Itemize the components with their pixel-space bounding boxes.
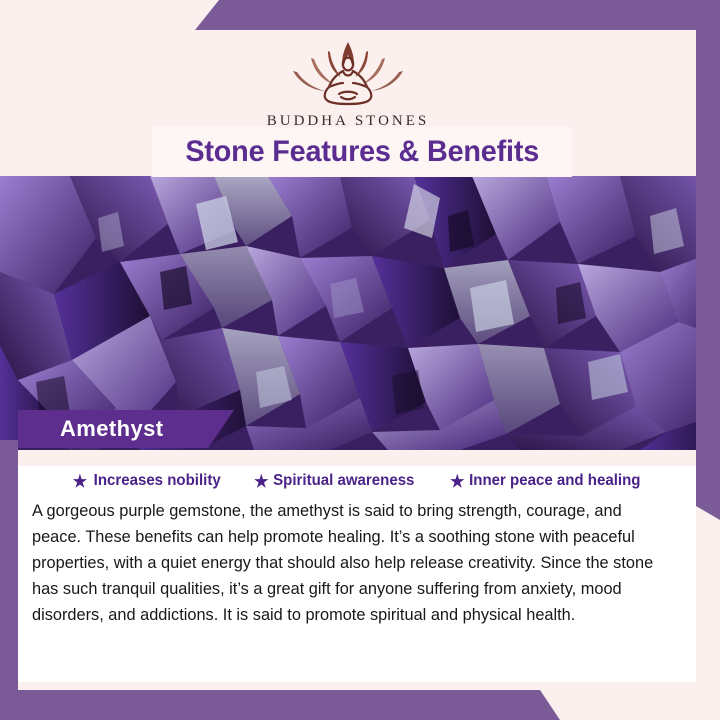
stone-name-tag: Amethyst bbox=[18, 410, 234, 448]
right-decor-strip bbox=[696, 0, 720, 520]
amethyst-crystal-graphic bbox=[0, 176, 720, 450]
star-icon: ★ bbox=[72, 473, 86, 490]
benefit-item: ★ Increases nobility bbox=[72, 472, 220, 490]
left-decor-strip bbox=[0, 440, 18, 720]
benefit-label: Increases nobility bbox=[93, 472, 220, 490]
benefit-label: Spiritual awareness bbox=[273, 472, 414, 490]
stone-name-label: Amethyst bbox=[60, 416, 163, 442]
benefits-row: ★ Increases nobility ★ Spiritual awarene… bbox=[18, 472, 696, 490]
bottom-decor-band bbox=[0, 690, 560, 720]
card-top-tint bbox=[18, 450, 696, 466]
page-title: Stone Features & Benefits bbox=[185, 135, 539, 169]
amethyst-photo bbox=[0, 176, 720, 450]
lotus-meditation-icon bbox=[273, 38, 423, 112]
benefit-label: Inner peace and healing bbox=[469, 472, 640, 490]
benefit-item: ★ Spiritual awareness bbox=[254, 472, 414, 490]
title-plate: Stone Features & Benefits bbox=[152, 127, 572, 177]
brand-logo: BUDDHA STONES bbox=[267, 38, 430, 130]
star-icon: ★ bbox=[254, 473, 268, 490]
stone-description: A gorgeous purple gemstone, the amethyst… bbox=[32, 498, 674, 628]
top-decor-band bbox=[195, 0, 720, 30]
content-card: ★ Increases nobility ★ Spiritual awarene… bbox=[18, 450, 696, 682]
infographic-page: BUDDHA STONES Stone Features & Benefits bbox=[0, 0, 720, 720]
star-icon: ★ bbox=[450, 473, 464, 490]
benefit-item: ★ Inner peace and healing bbox=[450, 472, 640, 490]
